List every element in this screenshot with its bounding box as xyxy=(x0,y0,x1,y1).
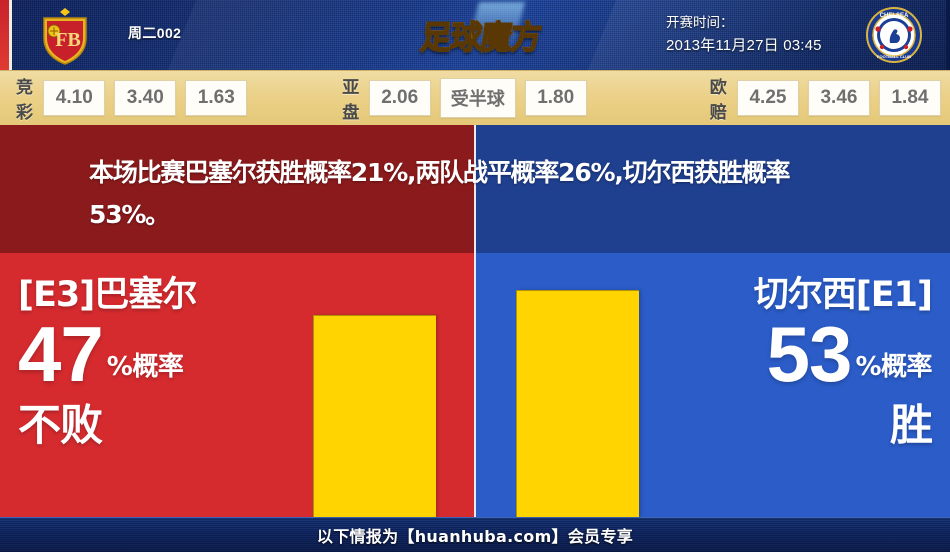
odds-group-label: 欧赔 xyxy=(710,73,728,123)
odds-group-european: 欧赔 4.25 3.46 1.84 xyxy=(710,73,950,123)
odds-group-label: 亚盘 xyxy=(342,73,359,123)
away-outcome-label: 胜 xyxy=(612,401,932,451)
site-logo-text: 足球魔方 xyxy=(419,10,544,57)
away-team-name: 切尔西[E1] xyxy=(612,275,932,315)
kickoff-label: 开赛时间： xyxy=(666,11,822,34)
header-bar: FB 周二002 足球魔方 开赛时间： 2013年11月27日 03:45 CH… xyxy=(0,0,950,70)
kickoff-value: 2013年11月27日 03:45 xyxy=(666,34,822,57)
away-percent-value: 53 xyxy=(767,317,852,391)
odds-cell-home-win[interactable]: 4.10 xyxy=(43,80,105,116)
away-percent-row: 53 %概率 xyxy=(612,317,932,391)
odds-cell-away-win[interactable]: 1.63 xyxy=(185,80,247,116)
odds-group-label: 竞彩 xyxy=(16,73,34,123)
away-percent-unit: %概率 xyxy=(851,351,932,391)
left-white-stripe xyxy=(9,0,12,70)
odds-cell-handicap[interactable]: 受半球 xyxy=(440,78,516,118)
odds-cell-asian-home[interactable]: 2.06 xyxy=(369,80,431,116)
odds-bar: 竞彩 4.10 3.40 1.63 亚盘 2.06 受半球 1.80 欧赔 4.… xyxy=(0,70,950,125)
match-probability-infographic: FB 周二002 足球魔方 开赛时间： 2013年11月27日 03:45 CH… xyxy=(0,0,950,552)
odds-cell-euro-draw[interactable]: 3.46 xyxy=(808,80,870,116)
right-edge-stripe xyxy=(946,0,950,70)
svg-text:FOOTBALL CLUB: FOOTBALL CLUB xyxy=(877,54,911,59)
left-red-stripe xyxy=(0,0,9,70)
svg-text:FB: FB xyxy=(55,29,81,51)
footer-text: 以下情报为【huanhuba.com】会员专享 xyxy=(317,523,633,547)
summary-text: 本场比赛巴塞尔获胜概率21%,两队战平概率26%,切尔西获胜概率53%。 xyxy=(89,152,869,236)
odds-group-jingcai: 竞彩 4.10 3.40 1.63 xyxy=(16,73,256,123)
match-number: 周二002 xyxy=(128,23,181,43)
footer-top-line xyxy=(0,517,950,518)
home-team-block: [E3]巴塞尔 47 %概率 不败 xyxy=(18,275,318,451)
odds-group-asian: 亚盘 2.06 受半球 1.80 xyxy=(342,73,595,123)
odds-cell-asian-away[interactable]: 1.80 xyxy=(525,80,587,116)
odds-cell-draw[interactable]: 3.40 xyxy=(114,80,176,116)
odds-cell-euro-home[interactable]: 4.25 xyxy=(737,80,799,116)
svg-text:CHELSEA: CHELSEA xyxy=(880,13,909,19)
home-percent-unit: %概率 xyxy=(103,351,184,391)
odds-cell-euro-away[interactable]: 1.84 xyxy=(879,80,941,116)
footer-bar: 以下情报为【huanhuba.com】会员专享 xyxy=(0,517,950,552)
home-team-name: [E3]巴塞尔 xyxy=(18,275,318,315)
home-percent-row: 47 %概率 xyxy=(18,317,318,391)
away-team-block: 切尔西[E1] 53 %概率 胜 xyxy=(612,275,932,451)
home-outcome-label: 不败 xyxy=(18,401,318,451)
bar-home-probability xyxy=(313,315,436,517)
home-percent-value: 47 xyxy=(18,317,103,391)
site-logo: 足球魔方 xyxy=(411,10,551,58)
probability-stage: 本场比赛巴塞尔获胜概率21%,两队战平概率26%,切尔西获胜概率53%。 [E3… xyxy=(0,125,950,517)
kickoff-time-block: 开赛时间： 2013年11月27日 03:45 xyxy=(666,11,822,57)
basel-crest-icon: FB xyxy=(32,6,98,66)
chelsea-crest-icon: CHELSEA FOOTBALL CLUB xyxy=(866,7,922,63)
